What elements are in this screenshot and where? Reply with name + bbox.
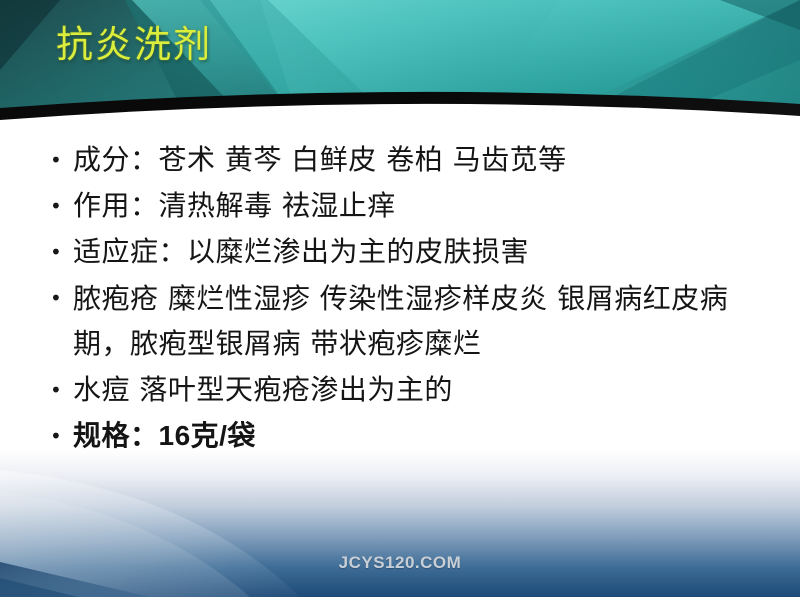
- presentation-slide: 抗炎洗剂 • 成分：苍术 黄芩 白鲜皮 卷柏 马齿苋等 • 作用：清热解毒 祛湿…: [0, 0, 800, 597]
- list-item: • 作用：清热解毒 祛湿止痒: [40, 184, 780, 228]
- site-watermark: JCYS120.COM: [0, 553, 800, 573]
- bullet-point-icon: •: [40, 368, 73, 412]
- page-title: 抗炎洗剂: [56, 22, 212, 68]
- footer-decoration-graphic: [0, 450, 800, 597]
- bullet-point-icon: •: [40, 414, 73, 458]
- bullet-list: • 成分：苍术 黄芩 白鲜皮 卷柏 马齿苋等 • 作用：清热解毒 祛湿止痒 • …: [40, 138, 780, 460]
- list-item: • 规格：16克/袋: [40, 414, 780, 458]
- bullet-point-icon: •: [40, 276, 73, 320]
- list-item: • 适应症：以糜烂渗出为主的皮肤损害: [40, 230, 780, 274]
- list-item-text: 脓疱疮 糜烂性湿疹 传染性湿疹样皮炎 银屑病红皮病期，脓疱型银屑病 带状疱疹糜烂: [73, 276, 780, 366]
- slide-footer-banner: [0, 450, 800, 597]
- list-item: • 水痘 落叶型天疱疮渗出为主的: [40, 368, 780, 412]
- list-item: • 成分：苍术 黄芩 白鲜皮 卷柏 马齿苋等: [40, 138, 780, 182]
- list-item-text: 作用：清热解毒 祛湿止痒: [73, 184, 780, 228]
- list-item-text: 水痘 落叶型天疱疮渗出为主的: [73, 368, 780, 412]
- bullet-point-icon: •: [40, 184, 73, 228]
- list-item-text: 适应症：以糜烂渗出为主的皮肤损害: [73, 230, 780, 274]
- list-item-text: 规格：16克/袋: [73, 414, 780, 458]
- list-item-text: 成分：苍术 黄芩 白鲜皮 卷柏 马齿苋等: [73, 138, 780, 182]
- bullet-point-icon: •: [40, 138, 73, 182]
- bullet-point-icon: •: [40, 230, 73, 274]
- list-item: • 脓疱疮 糜烂性湿疹 传染性湿疹样皮炎 银屑病红皮病期，脓疱型银屑病 带状疱疹…: [40, 276, 780, 366]
